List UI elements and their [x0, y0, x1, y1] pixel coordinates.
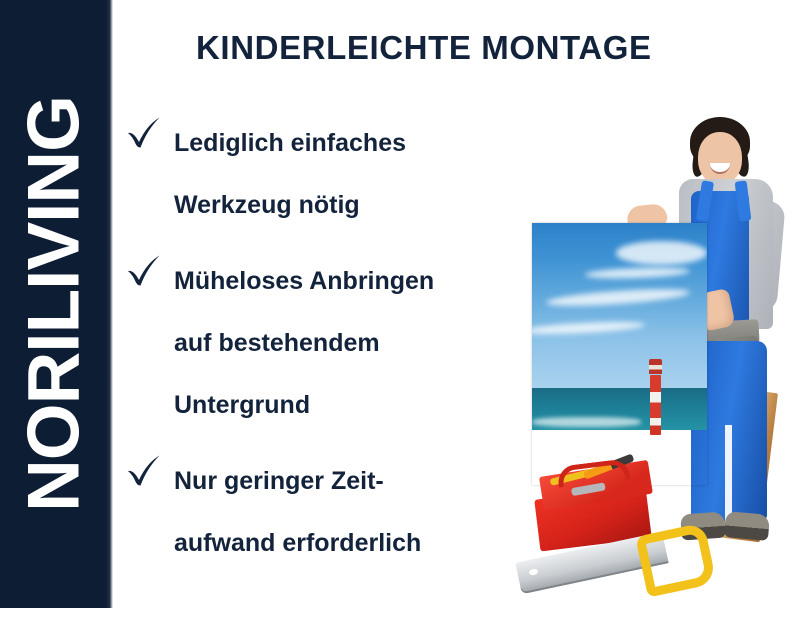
lighthouse-icon — [648, 357, 663, 435]
brand-rail-edge — [107, 0, 113, 608]
benefit-line: aufwand erforderlich — [174, 512, 526, 574]
brand-name: NORILIVING — [17, 96, 90, 512]
list-item: Lediglich einfaches Werkzeug nötig — [126, 112, 526, 236]
worker-head — [698, 132, 742, 184]
worker-leg-gap — [725, 425, 732, 521]
benefit-text: Lediglich einfaches Werkzeug nötig — [174, 112, 526, 236]
benefit-line: Werkzeug nötig — [174, 174, 526, 236]
promo-banner: NORILIVING KINDERLEICHTE MONTAGE Ledigli… — [0, 0, 799, 619]
lighthouse-lamp — [649, 359, 662, 374]
product-photo — [505, 105, 799, 619]
benefit-line: auf bestehendem — [174, 312, 526, 374]
check-mark-icon — [126, 112, 174, 150]
cloud — [616, 241, 707, 265]
benefit-text: Nur geringer Zeit- aufwand erforderlich — [174, 450, 526, 574]
list-item: Müheloses Anbringen auf bestehendem Unte… — [126, 250, 526, 436]
benefit-line: Müheloses Anbringen — [174, 250, 526, 312]
benefit-line: Untergrund — [174, 374, 526, 436]
brand-rail: NORILIVING — [0, 0, 107, 608]
benefit-line: Lediglich einfaches — [174, 112, 526, 174]
list-item: Nur geringer Zeit- aufwand erforderlich — [126, 450, 526, 574]
canvas-print — [532, 223, 707, 485]
check-mark-icon — [126, 450, 174, 488]
worker-shoe-right — [724, 511, 770, 541]
page-title: KINDERLEICHTE MONTAGE — [196, 29, 652, 67]
benefit-list: Lediglich einfaches Werkzeug nötig Mühel… — [126, 112, 526, 588]
handsaw-icon — [517, 523, 693, 593]
saw-handle — [635, 522, 716, 597]
benefit-text: Müheloses Anbringen auf bestehendem Unte… — [174, 250, 526, 436]
lighthouse-tower — [650, 375, 661, 435]
check-mark-icon — [126, 250, 174, 288]
benefit-line: Nur geringer Zeit- — [174, 450, 526, 512]
